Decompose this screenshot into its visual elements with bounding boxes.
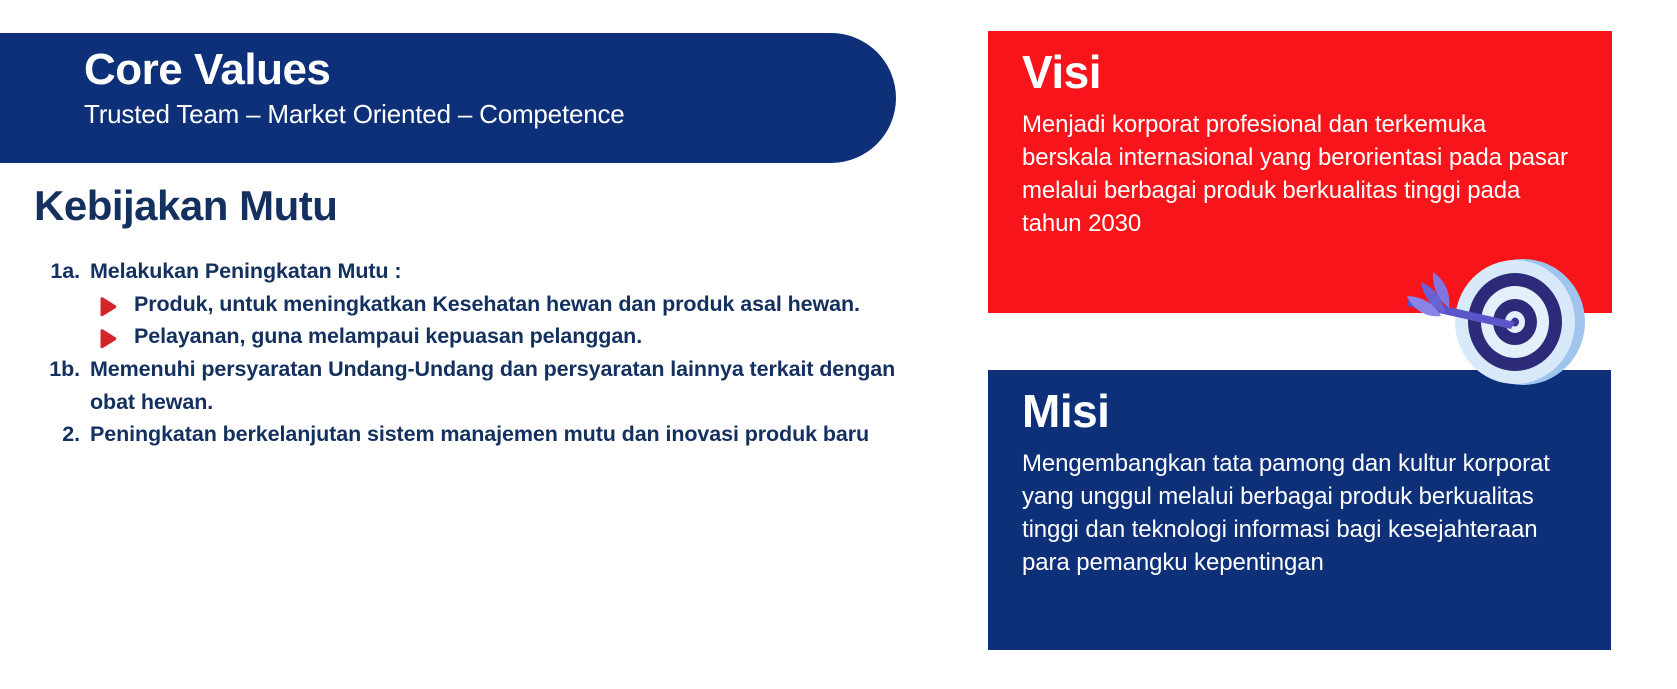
misi-title: Misi <box>1022 386 1577 437</box>
list-item-marker: 1b. <box>34 353 90 386</box>
visi-body: Menjadi korporat profesional dan terkemu… <box>1022 108 1578 240</box>
list-item-marker: 1a. <box>34 255 90 288</box>
policy-list: 1a. Melakukan Peningkatan Mutu : Produk,… <box>34 255 914 451</box>
triangle-bullet-icon <box>96 288 134 318</box>
list-item: 1a. Melakukan Peningkatan Mutu : <box>34 255 914 288</box>
list-item-text: Memenuhi persyaratan Undang-Undang dan p… <box>90 353 914 418</box>
list-subitem: Produk, untuk meningkatkan Kesehatan hew… <box>34 288 914 321</box>
core-values-subtitle: Trusted Team – Market Oriented – Compete… <box>84 98 896 131</box>
list-subitem-text: Produk, untuk meningkatkan Kesehatan hew… <box>134 288 914 321</box>
list-item-text: Melakukan Peningkatan Mutu : <box>90 255 914 288</box>
list-subitem: Pelayanan, guna melampaui kepuasan pelan… <box>34 320 914 353</box>
list-item: 2. Peningkatan berkelanjutan sistem mana… <box>34 418 914 451</box>
core-values-banner: Core Values Trusted Team – Market Orient… <box>0 33 896 163</box>
policy-title: Kebijakan Mutu <box>34 182 337 230</box>
list-item: 1b. Memenuhi persyaratan Undang-Undang d… <box>34 353 914 418</box>
list-item-marker: 2. <box>34 418 90 451</box>
visi-title: Visi <box>1022 47 1578 98</box>
list-subitem-text: Pelayanan, guna melampaui kepuasan pelan… <box>134 320 914 353</box>
core-values-title: Core Values <box>84 47 896 93</box>
misi-body: Mengembangkan tata pamong dan kultur kor… <box>1022 447 1577 579</box>
visi-card: Visi Menjadi korporat profesional dan te… <box>988 31 1612 313</box>
misi-card: Misi Mengembangkan tata pamong dan kultu… <box>988 370 1611 650</box>
triangle-bullet-icon <box>96 320 134 350</box>
list-item-text: Peningkatan berkelanjutan sistem manajem… <box>90 418 914 451</box>
